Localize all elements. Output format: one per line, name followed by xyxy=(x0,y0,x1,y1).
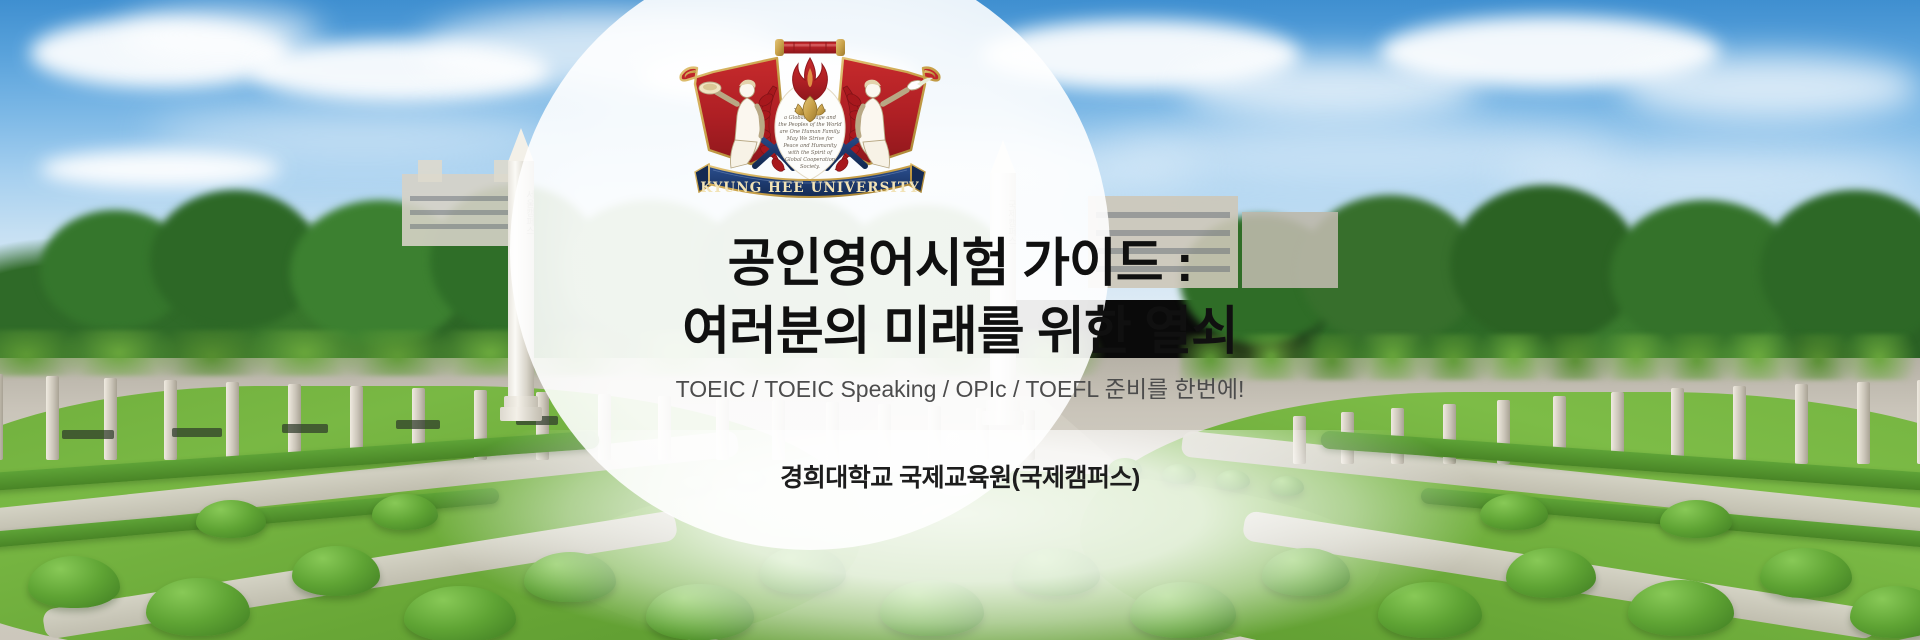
park-bench xyxy=(282,424,328,433)
crest-flame-icon xyxy=(793,58,828,100)
banner-title-line-2: 여러분의 미래를 위한 열쇠 xyxy=(0,302,1920,362)
crest-top-rod xyxy=(775,39,845,56)
crest-motto-line: Global Cooperation xyxy=(785,157,835,163)
park-bench xyxy=(396,420,440,429)
kyung-hee-university-crest: The World is a Global Village and the Pe… xyxy=(665,28,955,208)
round-shrub xyxy=(196,500,266,538)
park-bench xyxy=(172,428,222,437)
round-shrub xyxy=(372,494,438,530)
crest-motto-line: with the Spirit of xyxy=(788,150,833,156)
round-shrub xyxy=(1480,494,1548,530)
crest-motto-line: May We Strive for xyxy=(786,136,834,142)
crest-motto-line: Society. xyxy=(800,164,820,170)
obelisk-base xyxy=(500,407,542,421)
crest-motto-line: Peace and Humanity xyxy=(782,143,836,149)
cloud-shape xyxy=(1620,54,1920,120)
crest-motto-line: the Peoples of the World xyxy=(778,122,842,128)
park-bench xyxy=(62,430,114,439)
campus-promo-banner: 서울캠퍼스 국제캠퍼스 xyxy=(0,0,1920,640)
round-shrub xyxy=(1660,500,1732,538)
building-window-row xyxy=(1096,212,1230,218)
banner-title-line-1: 공인영어시험 가이드 : xyxy=(0,234,1920,294)
banner-subtitle: TOEIC / TOEIC Speaking / OPIc / TOEFL 준비… xyxy=(0,374,1920,404)
crest-motto-line: are One Human Family. xyxy=(780,129,841,135)
campus-building xyxy=(418,160,442,182)
crest-ribbon-text: KYUNG HEE UNIVERSITY xyxy=(700,180,920,196)
banner-footer-org: 경희대학교 국제교육원(국제캠퍼스) xyxy=(0,462,1920,494)
